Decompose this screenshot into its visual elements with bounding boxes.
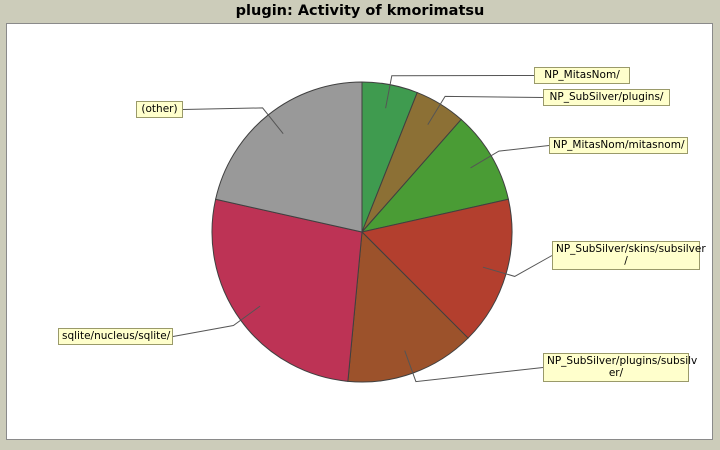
pie-slice-label[interactable]: NP_MitasNom/ [534, 67, 630, 84]
pie-slice-label[interactable]: NP_SubSilver/plugins/ [543, 89, 670, 106]
chart-window: plugin: Activity of kmorimatsu NP_MitasN… [0, 0, 720, 450]
pie-slice-label[interactable]: NP_SubSilver/skins/subsilver / [552, 241, 700, 270]
pie-slice-label[interactable]: NP_MitasNom/mitasnom/ [549, 137, 688, 154]
pie-slice-label[interactable]: NP_SubSilver/plugins/subsilv er/ [543, 353, 689, 382]
pie-slice-label[interactable]: sqlite/nucleus/sqlite/ [58, 328, 173, 345]
page-title: plugin: Activity of kmorimatsu [0, 0, 720, 22]
plot-panel: NP_MitasNom/NP_SubSilver/plugins/NP_Mita… [6, 23, 713, 440]
pie-slice-group [212, 82, 512, 382]
pie-slice-label[interactable]: (other) [136, 101, 183, 118]
